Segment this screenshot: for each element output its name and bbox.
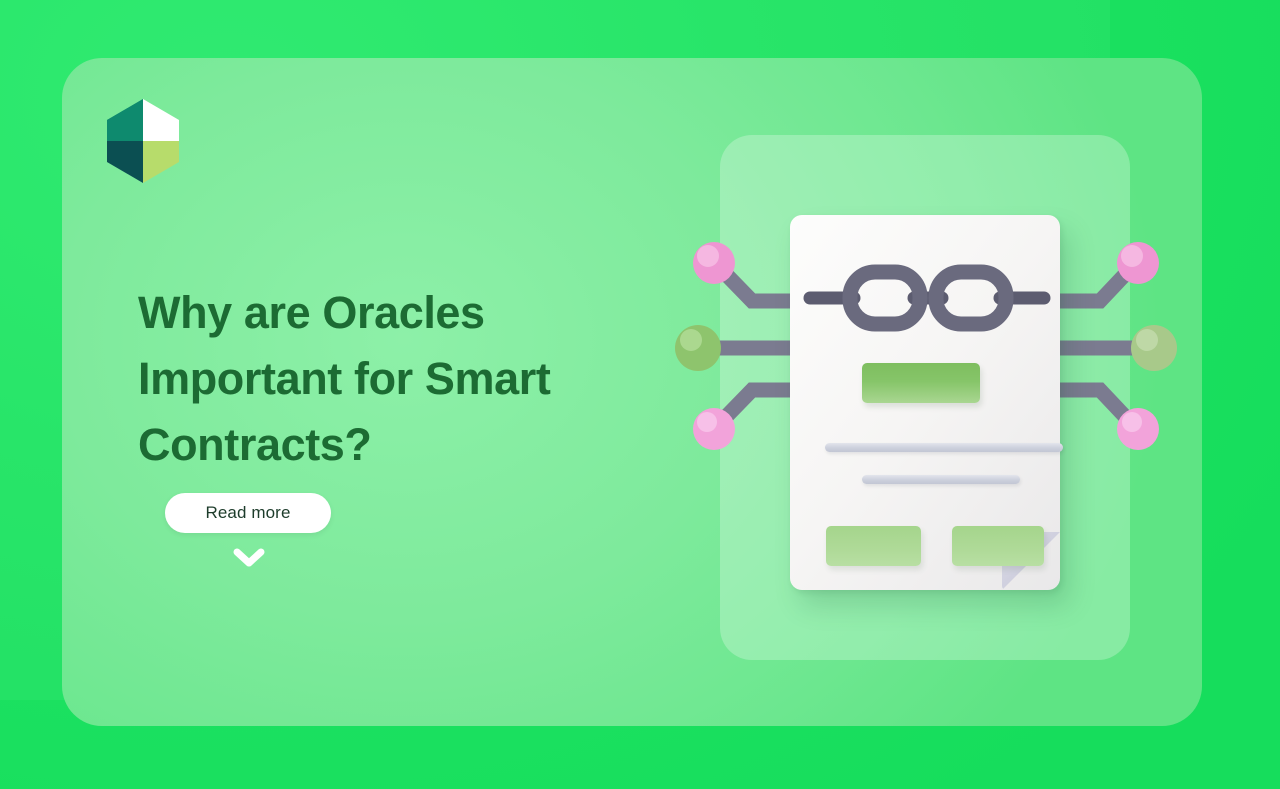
doc-block-primary (862, 363, 980, 403)
chevron-down-icon[interactable] (230, 545, 268, 571)
doc-block-left (826, 526, 921, 566)
backdrop-rounded-square (720, 135, 1130, 660)
hexagon-cube-logo[interactable] (106, 98, 180, 184)
doc-corner-notch (1003, 534, 1061, 591)
page-title: Why are Oracles Important for Smart Cont… (138, 280, 698, 478)
doc-block-right (952, 526, 1044, 566)
connector-nodes (675, 242, 1177, 450)
doc-line-short (862, 475, 1020, 484)
contract-document (790, 215, 1060, 590)
read-more-button[interactable]: Read more (165, 493, 331, 533)
chain-link-icon (802, 263, 1052, 333)
hero-card: Why are Oracles Important for Smart Cont… (62, 58, 1202, 726)
doc-line-long (825, 443, 1063, 452)
hero-banner-stage: Why are Oracles Important for Smart Cont… (0, 0, 1280, 789)
